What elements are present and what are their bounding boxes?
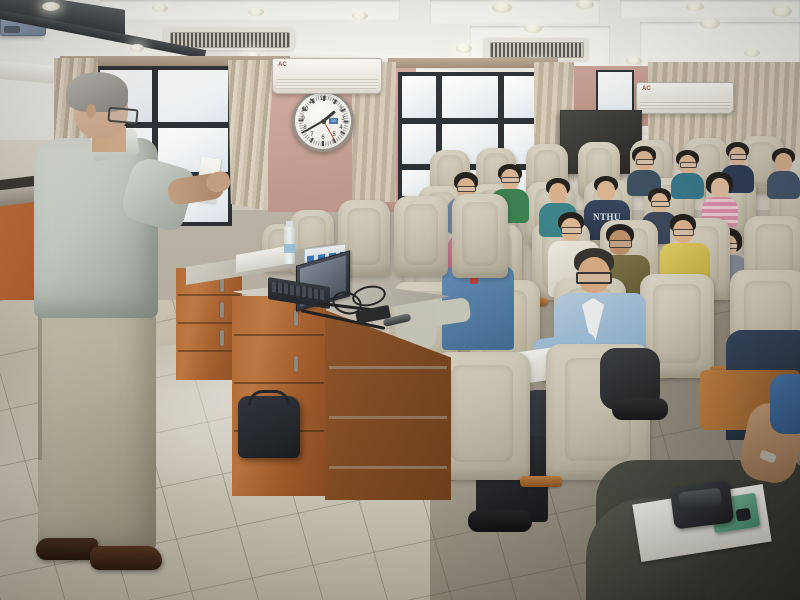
wall-clock: 12 1 2 3 4 5 6 7 8 9 10 11 20 [292,90,354,152]
ceiling-downlight [744,48,760,57]
foreground-neighbor-sleeve [770,374,800,434]
clock-date-window: 20 [329,118,338,124]
clock-tick [318,141,320,145]
ceiling-downlight [42,2,60,11]
drawer-handle[interactable] [294,310,298,326]
clock-center-cap [321,119,326,124]
ceiling-downlight [130,44,144,52]
presenter-shoe-right [90,546,162,570]
ceiling-downlight [576,0,594,9]
ceiling-downlight [772,6,792,17]
ceiling-downlight [492,2,512,13]
lecture-hall-photo: 12 1 2 3 4 5 6 7 8 9 10 11 20 AC AC [0,0,800,600]
ceiling-downlight [686,2,704,11]
water-bottle [284,226,295,264]
air-vent-icon [490,42,584,58]
ac-brand-mark: AC [278,62,287,68]
ceiling-downlight [248,8,264,16]
air-conditioner-split-unit-right: AC [636,82,734,114]
presenter-shoe-left [36,538,98,560]
ceiling-downlight [700,18,720,29]
clock-tick [323,141,325,146]
ceiling-downlight [626,56,642,65]
window-valance-right [388,58,558,68]
camera-bag [670,481,735,530]
ceiling-downlight [152,4,168,12]
ceiling-downlight [456,44,472,53]
bottle-label [284,244,295,253]
clock-tick [344,123,348,124]
presenter-glasses [107,107,138,125]
presenter-trousers [38,310,156,550]
ac-brand-mark: AC [642,86,651,92]
foreground-neighbor-shoe [612,398,668,420]
presenter-hair [66,72,128,112]
ceiling-downlight [352,12,368,20]
clock-tick [299,120,304,122]
drawer-handle[interactable] [294,356,298,372]
ceiling-downlight [524,24,542,33]
laptop-bag [238,396,300,458]
clock-tick [325,142,326,146]
air-conditioner-split-unit-left: AC [272,58,382,94]
presenter-ear [86,104,96,118]
shoe [468,510,532,532]
